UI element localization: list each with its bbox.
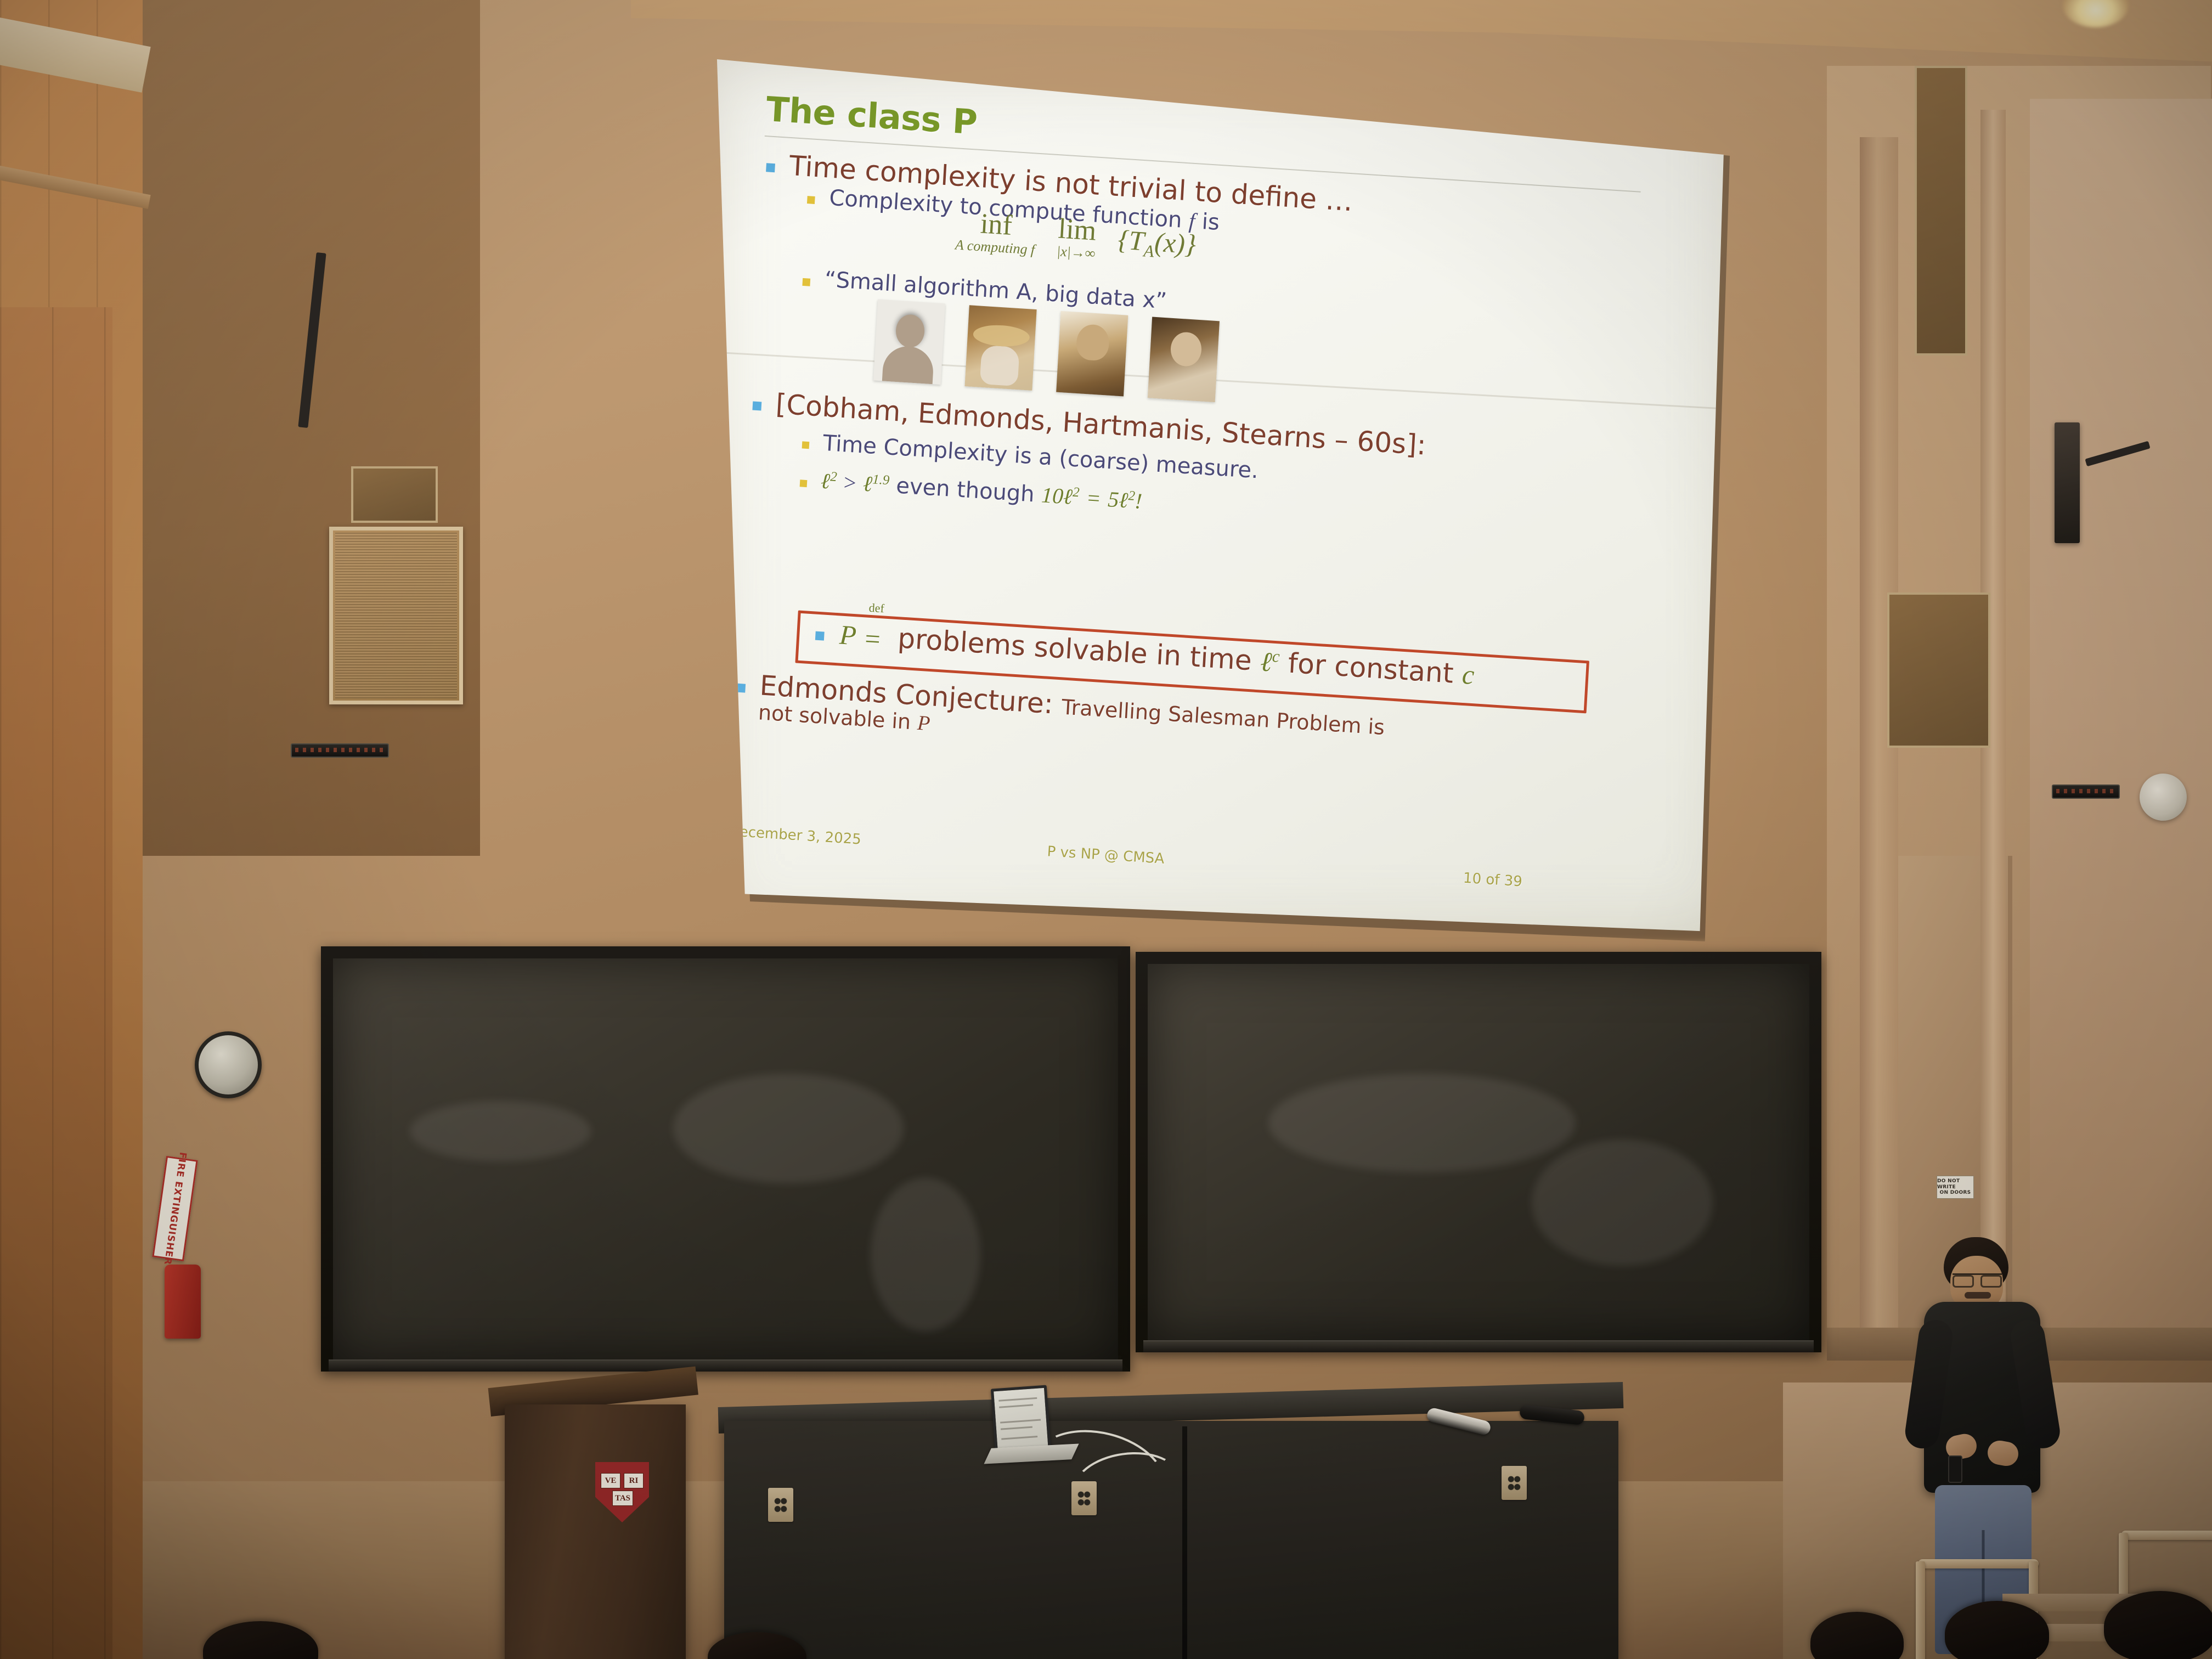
eq-sign: = — [1086, 486, 1102, 511]
wall-clock-icon — [195, 1031, 262, 1098]
wall-speaker-left — [329, 527, 463, 704]
ceiling-speaker-box — [2055, 422, 2080, 543]
bullet-marker-level2-c — [802, 441, 810, 449]
upper-left-wall — [140, 0, 480, 856]
chalkboard-left — [321, 946, 1130, 1372]
P-symbol-inline: P — [917, 712, 931, 735]
edmonds-portrait — [965, 305, 1037, 391]
do-not-write-sign: DO NOT WRITE ON DOORS — [1937, 1176, 1974, 1199]
demo-table[interactable] — [724, 1421, 1618, 1659]
ell-relation: > — [843, 470, 857, 495]
power-outlet-right[interactable] — [1502, 1466, 1527, 1500]
bullet-marker-level2-b — [802, 278, 810, 286]
slide-title: The class P — [765, 89, 979, 142]
bullet-marker-level2-a — [807, 196, 815, 204]
inf-symbol: inf — [980, 210, 1013, 240]
ell-lhs-exp: 2 — [830, 469, 838, 484]
right-corner-wall — [2030, 99, 2212, 1333]
wall-round-fixture — [2140, 774, 2187, 821]
lecture-hall-scene: FIRE EXTINGUISHER DO NOT WRITE ON DOORS … — [0, 0, 2212, 1659]
demo-table-divider — [1182, 1426, 1187, 1659]
eq-left-base: ℓ — [1063, 484, 1073, 509]
crest-book-1: VE — [601, 1473, 620, 1488]
ell-rhs: ℓ — [862, 471, 873, 496]
def-relation: = — [864, 623, 881, 654]
chalk-tray-left — [329, 1359, 1122, 1372]
audience-head — [2104, 1591, 2212, 1659]
chalk-tray-right — [1143, 1340, 1814, 1352]
silhouette-body-icon — [882, 345, 934, 384]
column-speaker-right-lower — [1887, 592, 1990, 748]
bullet-marker-level1-b — [752, 402, 761, 411]
inf-subscript: A computing f — [955, 238, 1035, 257]
stearns-portrait — [1148, 317, 1220, 403]
chalk-smudge — [410, 1101, 591, 1161]
bullet-marker-level1-c — [815, 631, 825, 641]
ell-lhs: ℓ — [820, 469, 831, 494]
led-strip-left — [291, 743, 389, 758]
laptop-screen-line — [998, 1397, 1037, 1402]
hartmanis-portrait — [1056, 311, 1128, 397]
fire-extinguisher-sign-label: FIRE EXTINGUISHER — [162, 1152, 189, 1266]
presenter-mustache — [1965, 1292, 1991, 1299]
slide-content: The class P Time complexity is not trivi… — [708, 55, 1737, 938]
ell-middle-text: even though — [895, 473, 1035, 507]
P-symbol: P — [839, 619, 857, 651]
column-speaker-right — [1915, 66, 1967, 356]
crest-book-2: RI — [624, 1473, 644, 1488]
left-wood-panel-wall-lower — [0, 307, 112, 1659]
do-not-write-line-2: ON DOORS — [1940, 1190, 1971, 1195]
infimum-operator: inf A computing f — [955, 208, 1037, 257]
lim-subscript: |x|→∞ — [1056, 244, 1096, 261]
laptop-screen-line — [1001, 1436, 1037, 1440]
laptop-screen-line — [999, 1404, 1033, 1408]
constant-c-symbol: c — [1462, 659, 1475, 690]
limit-operator: lim |x|→∞ — [1056, 215, 1097, 261]
running-time-expression: {TA(x)} — [1117, 223, 1197, 264]
chalk-smudge — [871, 1178, 980, 1331]
do-not-write-line-1: DO NOT WRITE — [1937, 1178, 1973, 1190]
chalk-smudge — [1268, 1074, 1576, 1172]
slide-footer-date: December 3, 2025 — [728, 823, 862, 848]
cobham-silhouette-portrait — [873, 300, 945, 385]
presenter-badge-clip — [1948, 1455, 1962, 1483]
bullet-marker-level1-a — [766, 163, 775, 172]
chalkboard-right — [1136, 952, 1821, 1352]
researcher-portrait-row — [873, 300, 1220, 402]
eq-left-coef: 10 — [1041, 482, 1064, 508]
railing-bar — [2121, 1531, 2212, 1540]
projection-screen: The class P Time complexity is not trivi… — [708, 55, 1739, 938]
slide-footer-center: P vs NP @ CMSA — [1047, 843, 1165, 867]
led-strip-right — [2052, 785, 2120, 799]
glasses-icon — [1953, 1273, 2002, 1284]
lectern-podium[interactable] — [505, 1404, 686, 1659]
time-exponent-c: c — [1272, 646, 1280, 666]
eq-bang: ! — [1134, 488, 1143, 513]
wall-speaker-upper-left — [351, 466, 438, 523]
def-label: def — [868, 600, 885, 616]
laptop-screen-line — [1001, 1426, 1032, 1430]
lim-symbol: lim — [1057, 215, 1097, 245]
eq-right-base: ℓ — [1118, 487, 1128, 512]
bullet-marker-level2-d — [800, 479, 808, 487]
laptop-screen-line — [1000, 1419, 1041, 1423]
chalkboard-left-surface — [333, 958, 1118, 1359]
ell-rhs-exp: 1.9 — [872, 472, 890, 488]
chalk-smudge — [1532, 1139, 1713, 1266]
silhouette-head-icon — [895, 314, 925, 348]
slide-footer-page: 10 of 39 — [1463, 870, 1522, 890]
crest-book-3: TAS — [612, 1491, 633, 1506]
complexity-suffix: is — [1194, 208, 1220, 235]
eq-left-exp: 2 — [1073, 485, 1080, 500]
time-base-ell: ℓ — [1260, 646, 1273, 677]
fire-extinguisher-icon — [165, 1265, 201, 1339]
railing-post — [1916, 1561, 1925, 1659]
railing-bar — [1918, 1559, 2039, 1568]
bullet-ell-comparison: ℓ2 > ℓ1.9 even though 10ℓ2 = 5ℓ2! — [820, 468, 1143, 514]
chalkboard-right-surface — [1148, 964, 1809, 1340]
chalk-smudge — [673, 1074, 904, 1183]
power-outlet-left[interactable] — [768, 1488, 793, 1522]
edmonds-conjecture-body: Travelling Salesman Problem is — [1061, 695, 1385, 739]
